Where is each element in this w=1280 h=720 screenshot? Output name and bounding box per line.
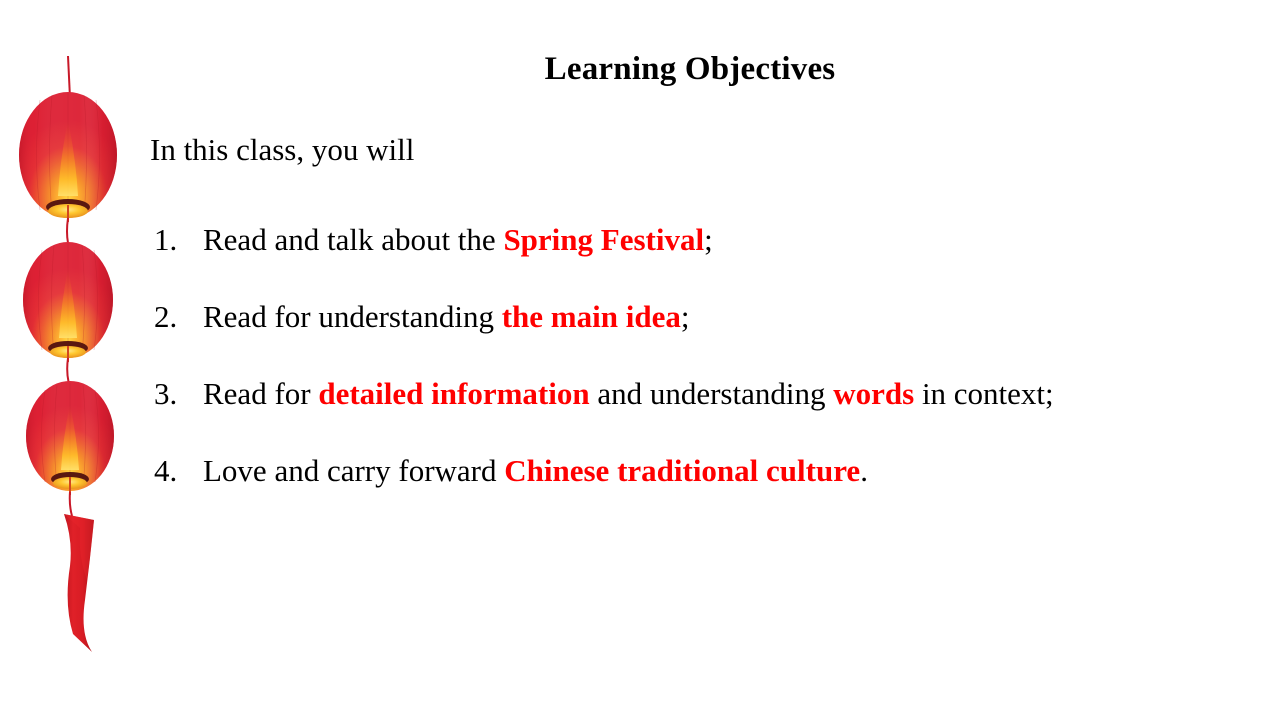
list-item-number: 2. [154,278,194,355]
list-item: 4. Love and carry forward Chinese tradit… [150,432,1250,509]
intro-line: In this class, you will [150,124,1250,176]
list-item-emphasis-secondary: words [833,376,914,411]
list-item: 1. Read and talk about the Spring Festiv… [150,201,1250,278]
list-item-emphasis: the main idea [502,299,681,334]
list-item-text-tail: ; [704,222,713,257]
list-item-text: Read and talk about the Spring Festival; [203,201,1250,278]
lantern-2 [23,242,113,362]
list-item-text: Read for understanding the main idea; [203,278,1250,355]
list-item-text-plain: Love and carry forward [203,453,504,488]
list-item-text: Love and carry forward Chinese tradition… [203,432,1250,509]
list-item-number: 4. [154,432,194,509]
list-item: 3. Read for detailed information and und… [150,355,1250,432]
page-title: Learning Objectives [150,50,1230,90]
list-item-text: Read for detailed information and unders… [203,355,1250,432]
chinese-sky-lanterns-decoration [0,0,145,720]
list-item-text-plain: Read for [203,376,318,411]
list-item-number: 3. [154,355,194,432]
list-item-text-tail: ; [681,299,690,334]
list-item-emphasis: detailed information [318,376,589,411]
list-item-text-plain: Read for understanding [203,299,502,334]
lantern-ribbon-tail [64,514,94,652]
list-item-text-tail: in context; [914,376,1053,411]
slide-canvas: Learning Objectives In this class, you w… [0,0,1280,720]
list-item-text-tail: . [860,453,868,488]
list-item-number: 1. [154,201,194,278]
list-item-emphasis: Chinese traditional culture [504,453,860,488]
objectives-list: 1. Read and talk about the Spring Festiv… [150,201,1250,509]
list-item: 2. Read for understanding the main idea; [150,278,1250,355]
list-item-text-plain: Read and talk about the [203,222,503,257]
lantern-1 [19,92,117,222]
lantern-3 [26,381,114,495]
list-item-emphasis: Spring Festival [503,222,704,257]
objectives-block: In this class, you will 1. Read and talk… [150,124,1250,509]
list-item-text-middle: and understanding [590,376,834,411]
